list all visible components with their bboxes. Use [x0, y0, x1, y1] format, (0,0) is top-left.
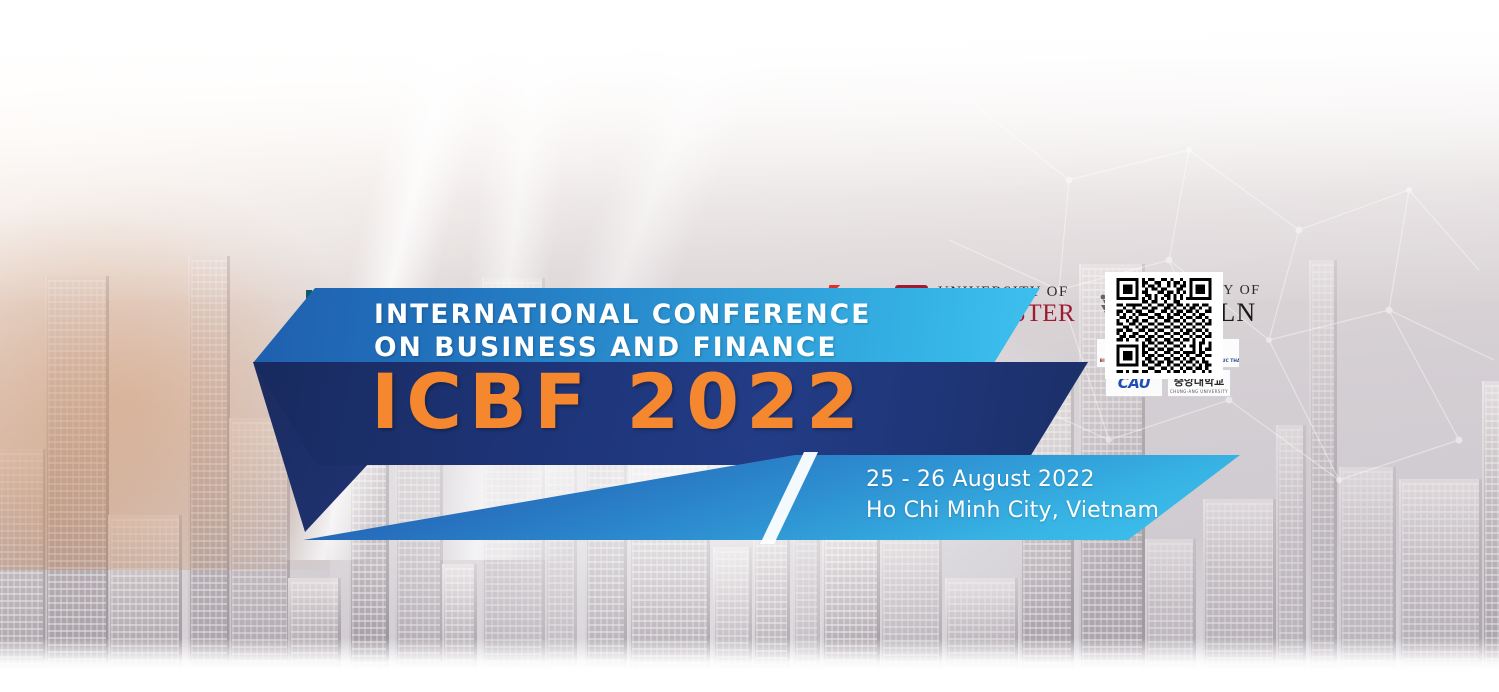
- conference-title: ICBF 2022: [371, 364, 866, 440]
- conference-date-location: 25 - 26 August 2022 Ho Chi Minh City, Vi…: [866, 464, 1159, 526]
- banner-graphic: INTERNATIONAL CONFERENCE ON BUSINESS AND…: [0, 0, 1499, 692]
- conference-banner: UEH UNIVERSITY Viện Nghiên cứu kinh doan…: [0, 0, 1499, 692]
- conference-headline: INTERNATIONAL CONFERENCE ON BUSINESS AND…: [374, 299, 872, 364]
